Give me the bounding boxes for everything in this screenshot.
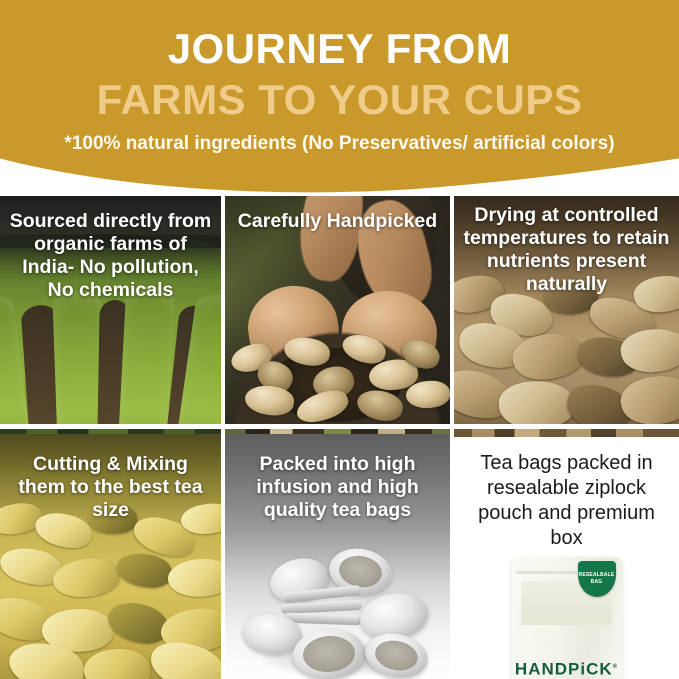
step-card-3-caption: Drying at controlled temperatures to ret… <box>454 186 679 296</box>
step-card-1[interactable]: Sourced directly from organic farms of I… <box>0 186 221 424</box>
step-card-5[interactable]: Packed into high infusion and high quali… <box>225 429 450 679</box>
header-wave-divider <box>0 158 679 196</box>
dried-chip <box>497 378 577 424</box>
tea-pod-face <box>301 634 355 674</box>
step-card-4-caption: Cutting & Mixing them to the best tea si… <box>0 429 221 522</box>
badge-line2: BAG <box>591 579 603 586</box>
page-title-line1: JOURNEY FROM <box>0 0 679 72</box>
ginger-flake <box>50 553 123 603</box>
step-card-6[interactable]: RESEALBALE BAG HANDPiCK® Tea bags packed… <box>454 429 679 679</box>
step-card-4[interactable]: Cutting & Mixing them to the best tea si… <box>0 429 221 679</box>
brand-name: HANDPiCK <box>515 660 613 679</box>
process-row-top: Sourced directly from organic farms of I… <box>0 186 679 424</box>
ginger-pile <box>225 315 450 424</box>
infographic-root: JOURNEY FROM FARMS TO YOUR CUPS *100% na… <box>0 0 679 679</box>
header-subtitle: *100% natural ingredients (No Preservati… <box>0 124 679 155</box>
ginger-flake <box>166 555 221 601</box>
registered-mark-icon: ® <box>613 664 618 670</box>
dried-chip <box>616 369 679 424</box>
step-card-1-caption: Sourced directly from organic farms of I… <box>0 186 221 302</box>
step-card-6-caption: Tea bags packed in resealable ziplock po… <box>454 429 679 551</box>
step-card-5-caption: Packed into high infusion and high quali… <box>225 429 450 522</box>
process-row-bottom: Cutting & Mixing them to the best tea si… <box>0 429 679 679</box>
step-card-2[interactable]: Carefully Handpicked <box>225 186 450 424</box>
brand-logo: HANDPiCK® <box>512 658 622 679</box>
badge-line1: RESEALBALE <box>579 572 615 579</box>
ginger-flake <box>106 600 171 646</box>
tea-pod-face <box>336 553 383 591</box>
tea-pod-face <box>372 637 420 674</box>
ginger-flake <box>82 645 153 679</box>
product-pouch: RESEALBALE BAG HANDPiCK® <box>512 557 622 679</box>
page-title-line2: FARMS TO YOUR CUPS <box>0 72 679 124</box>
process-steps-grid: Sourced directly from organic farms of I… <box>0 186 679 679</box>
step-card-3[interactable]: Drying at controlled temperatures to ret… <box>454 186 679 424</box>
field-crop-row <box>117 285 174 424</box>
header-text-block: JOURNEY FROM FARMS TO YOUR CUPS *100% na… <box>0 0 679 155</box>
ginger-flake <box>116 552 173 588</box>
header-banner: JOURNEY FROM FARMS TO YOUR CUPS *100% na… <box>0 0 679 196</box>
